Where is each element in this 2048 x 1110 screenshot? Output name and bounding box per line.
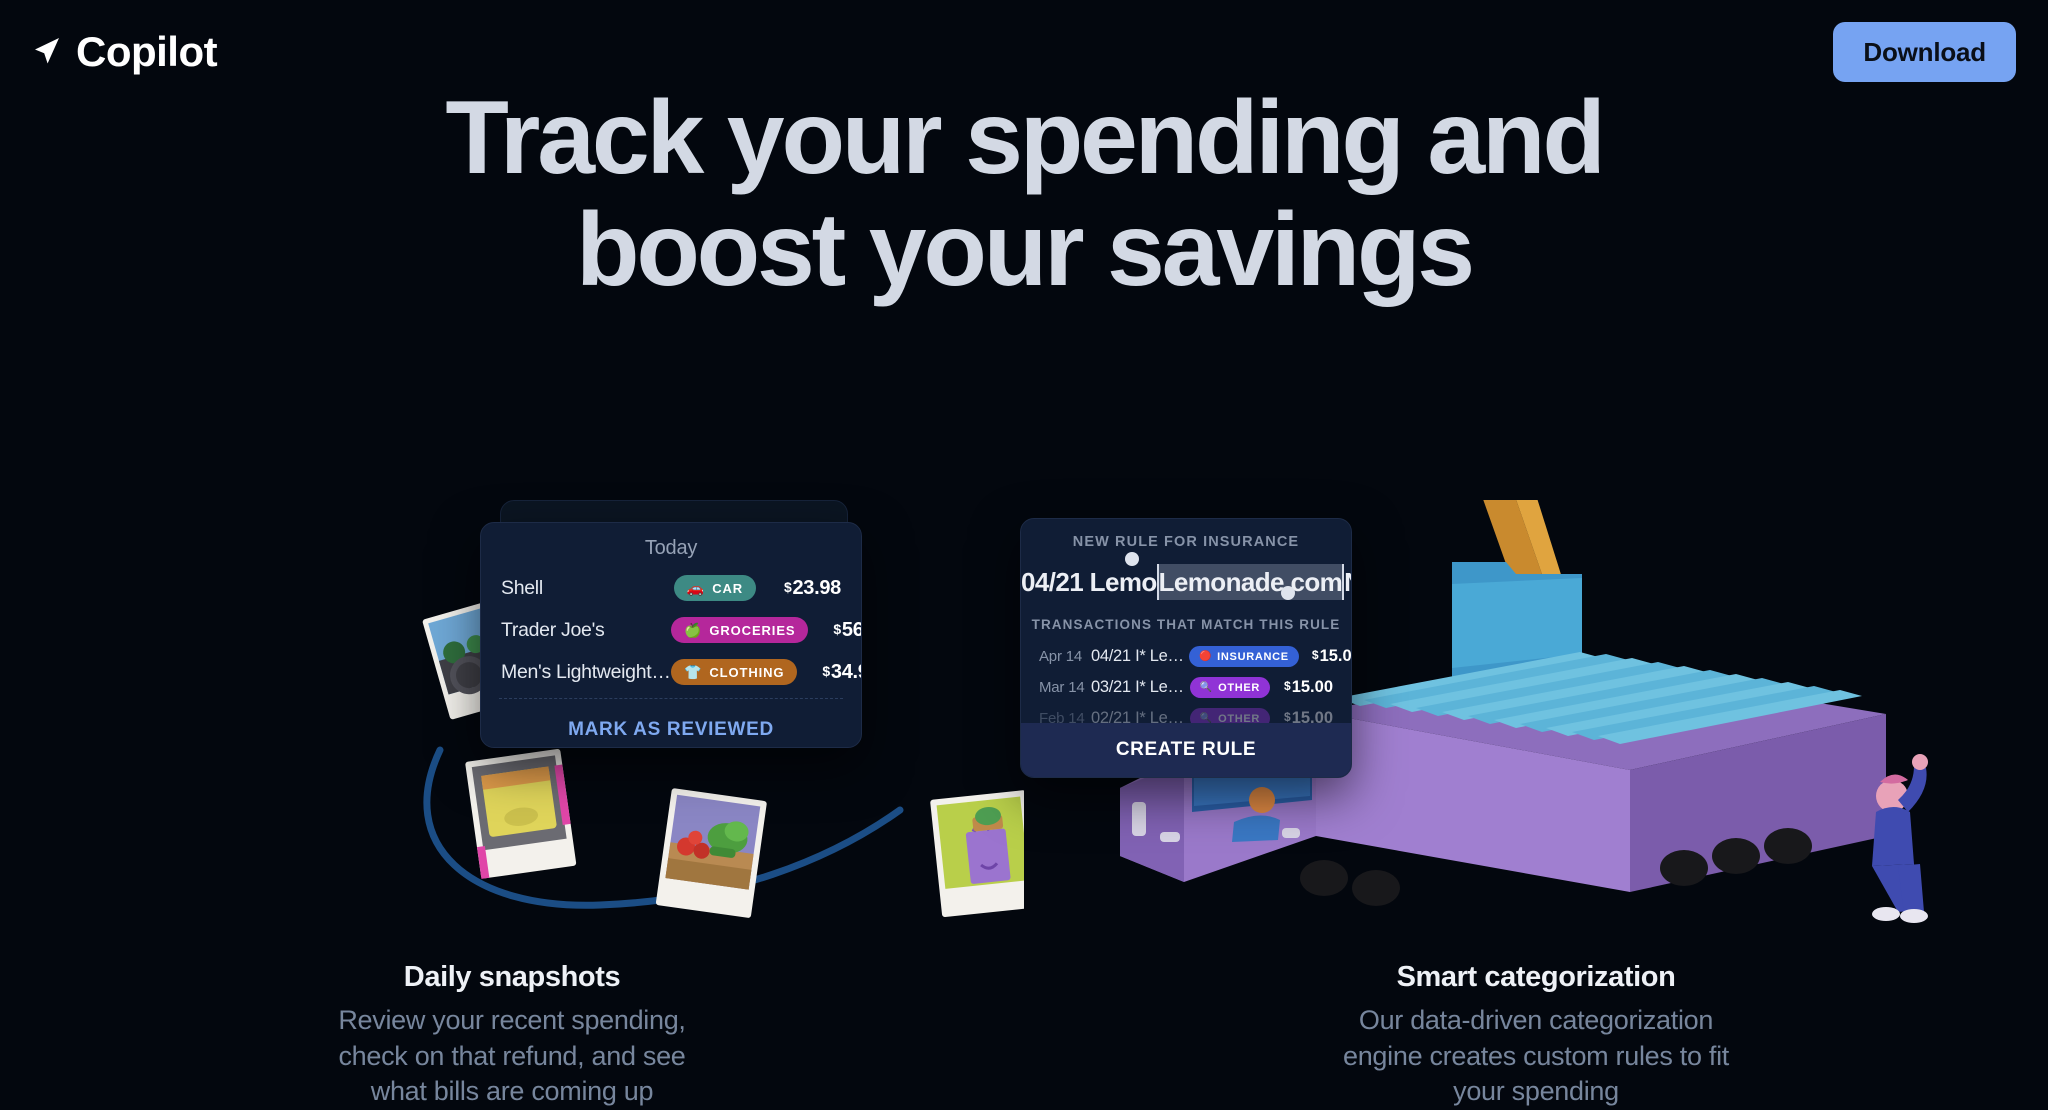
table-row[interactable]: Trader Joe's 🍏 GROCERIES $56.42 — [481, 614, 861, 646]
car-icon: 🚗 — [687, 581, 705, 595]
headline-line-2: boost your savings — [0, 194, 2048, 306]
transaction-amount: $56.42 — [808, 619, 862, 642]
download-button[interactable]: Download — [1833, 22, 2016, 82]
crane-arm-icon — [1462, 500, 1564, 622]
transaction-amount: $34.90 — [797, 661, 862, 684]
table-row[interactable]: Men's Lightweight Fren… 👕 CLOTHING $34.9… — [481, 656, 861, 688]
person-icon — [1872, 754, 1928, 923]
apple-icon: 🍏 — [684, 623, 702, 637]
feature-body: Review your recent spending, check on th… — [312, 1003, 712, 1110]
create-rule-bar: CREATE RULE — [1021, 723, 1351, 777]
brand-logo[interactable]: Copilot — [28, 31, 217, 73]
rule-text-suffix: NY — [1344, 567, 1352, 597]
category-pill[interactable]: 🔍 OTHER — [1190, 677, 1270, 698]
rule-text-field[interactable]: 04/21 LemoLemonade.comNY — [1021, 550, 1351, 598]
transaction-amount: $23.98 — [759, 577, 841, 600]
category-pill[interactable]: 🍏 GROCERIES — [671, 617, 808, 643]
feature-body: Our data-driven categorization engine cr… — [1336, 1003, 1736, 1110]
category-pill[interactable]: 🔴 INSURANCE — [1189, 646, 1299, 667]
transaction-name: Men's Lightweight Fren… — [501, 661, 671, 684]
shirt-icon: 👕 — [684, 665, 702, 679]
create-rule-button[interactable]: CREATE RULE — [1116, 739, 1256, 761]
feature-title: Smart categorization — [1024, 961, 2048, 994]
card-section-label: Today — [481, 523, 861, 572]
table-row[interactable]: Shell 🚗 CAR $23.98 — [481, 572, 861, 604]
category-label: OTHER — [1218, 682, 1260, 694]
red-circle-icon: 🔴 — [1199, 652, 1212, 662]
selection-handle-start[interactable] — [1125, 552, 1139, 566]
feature-caption: Daily snapshots Review your recent spend… — [0, 961, 1024, 1110]
brand-name: Copilot — [76, 31, 217, 73]
file-folder-icon — [1452, 562, 1582, 680]
magnifier-icon: 🔍 — [1200, 683, 1213, 693]
site-header: Copilot Download — [0, 0, 2048, 104]
navigation-arrow-icon — [28, 35, 62, 69]
new-rule-card: NEW RULE FOR INSURANCE 04/21 LemoLemonad… — [1020, 518, 1352, 778]
feature-smart-categorization: 01010101 — [1024, 500, 2048, 1090]
daily-snapshots-stage: Today Shell 🚗 CAR $23.98 Trader Joe's — [0, 500, 1024, 930]
category-label: CAR — [712, 581, 743, 596]
transaction-amount: $15.00 — [1299, 647, 1352, 666]
category-pill[interactable]: 🚗 CAR — [674, 575, 756, 601]
mark-as-reviewed-button[interactable]: MARK AS REVIEWED — [481, 699, 861, 741]
transaction-date: Mar 14 — [1039, 679, 1091, 696]
transaction-name: Shell — [501, 577, 671, 600]
table-row[interactable]: Mar 14 03/21 I* Lemo… 🔍 OTHER $15.00 — [1021, 675, 1351, 700]
rule-text-prefix: 04/21 Lemo — [1021, 567, 1157, 597]
binary-label: 01010101 — [1492, 675, 1579, 721]
transaction-date: Apr 14 — [1039, 648, 1091, 665]
selection-handle-end[interactable] — [1281, 586, 1295, 600]
category-label: INSURANCE — [1217, 651, 1289, 663]
category-label: CLOTHING — [709, 665, 784, 680]
page-title: Track your spending and boost your savin… — [0, 82, 2048, 307]
table-row[interactable]: Apr 14 04/21 I* Lemo… 🔴 INSURANCE $15.00 — [1021, 644, 1351, 669]
feature-sections: Today Shell 🚗 CAR $23.98 Trader Joe's — [0, 500, 2048, 1090]
matching-transactions-label: TRANSACTIONS THAT MATCH THIS RULE — [1021, 598, 1351, 644]
rule-header-label: NEW RULE FOR INSURANCE — [1021, 519, 1351, 550]
transaction-amount: $15.00 — [1271, 678, 1333, 697]
feature-caption: Smart categorization Our data-driven cat… — [1024, 961, 2048, 1110]
daily-snapshot-card: Today Shell 🚗 CAR $23.98 Trader Joe's — [480, 522, 862, 748]
transaction-name: Trader Joe's — [501, 619, 671, 642]
category-pill[interactable]: 👕 CLOTHING — [671, 659, 797, 685]
transaction-description: 03/21 I* Lemo… — [1091, 678, 1189, 697]
transaction-description: 04/21 I* Lemo… — [1091, 647, 1189, 666]
category-label: GROCERIES — [709, 623, 795, 638]
feature-title: Daily snapshots — [0, 961, 1024, 994]
smart-categorization-stage: 01010101 — [1024, 500, 2048, 930]
magnifier-icon: 🔍 — [1200, 714, 1213, 724]
feature-daily-snapshots: Today Shell 🚗 CAR $23.98 Trader Joe's — [0, 500, 1024, 1090]
selected-text[interactable]: Lemonade.com — [1157, 564, 1345, 600]
